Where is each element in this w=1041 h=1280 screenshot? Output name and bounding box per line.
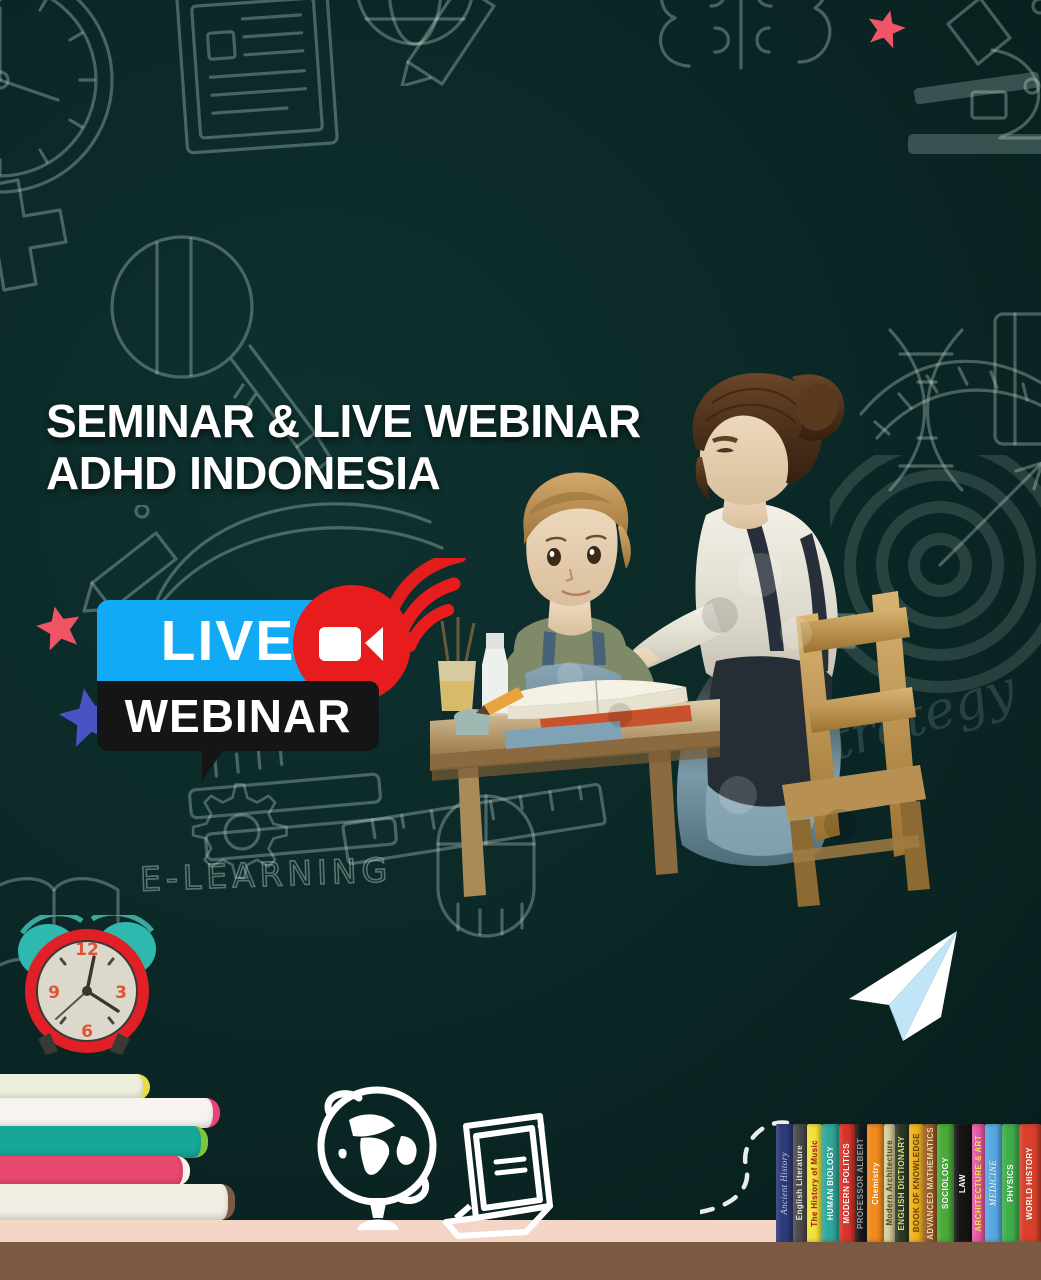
book-spine: MEDICINE bbox=[985, 1124, 1002, 1242]
book-spine-title: MEDICINE bbox=[989, 1160, 998, 1206]
book-spine-title: English Literature bbox=[796, 1145, 804, 1220]
live-label: LIVE bbox=[161, 613, 302, 670]
globe-outline-icon bbox=[330, 0, 500, 58]
book-stack bbox=[0, 1076, 260, 1220]
plus-icon bbox=[0, 176, 84, 296]
book-spine-title: Chemistry bbox=[872, 1162, 880, 1205]
book-spine: Modern Architecture bbox=[884, 1124, 895, 1242]
book-spine-title: The History of Music bbox=[811, 1140, 819, 1227]
book-spine: ENGLISH DICTIONARY bbox=[895, 1124, 909, 1242]
globe-icon bbox=[305, 1078, 455, 1238]
page-title: SEMINAR & LIVE WEBINAR ADHD INDONESIA bbox=[46, 396, 641, 499]
notebook-icon bbox=[985, 300, 1041, 480]
book-spine-title: WORLD HISTORY bbox=[1026, 1147, 1034, 1220]
book-spine: The History of Music bbox=[807, 1124, 822, 1242]
svg-text:3: 3 bbox=[115, 983, 127, 1003]
book-spine-title: ADVANCED MATHEMATICS bbox=[927, 1127, 935, 1240]
stacked-book bbox=[0, 1126, 208, 1158]
book-spine: ARCHITECTURE & ART bbox=[972, 1124, 985, 1242]
pencil-icon bbox=[390, 0, 530, 86]
book-spine-title: LAW bbox=[959, 1174, 967, 1193]
brain-icon bbox=[645, 0, 875, 106]
tablet-icon bbox=[440, 1110, 560, 1240]
book-spine-title: BOOK OF KNOWLEDGE bbox=[913, 1133, 921, 1232]
book-spine-title: MODERN POLITICS bbox=[843, 1143, 851, 1224]
book-spine-title: SOCIOLOGY bbox=[942, 1157, 950, 1209]
book-spine: BOOK OF KNOWLEDGE bbox=[909, 1124, 924, 1242]
svg-text:6: 6 bbox=[81, 1022, 93, 1042]
clipboard-icon bbox=[170, 0, 370, 168]
alarm-clock-icon: 12 3 6 9 bbox=[8, 915, 168, 1075]
book-spine: Chemistry bbox=[867, 1124, 884, 1242]
book-spine-title: PROFESSOR ALBERT bbox=[857, 1138, 865, 1229]
poster-canvas: strategy E-LEARNING bbox=[0, 0, 1041, 1280]
stacked-book bbox=[0, 1098, 220, 1128]
book-spine: WORLD HISTORY bbox=[1019, 1124, 1041, 1242]
svg-text:9: 9 bbox=[48, 983, 60, 1003]
book-spine: HUMAN BIOLOGY bbox=[822, 1124, 839, 1242]
book-spine: Ancient History bbox=[776, 1124, 793, 1242]
stacked-book bbox=[0, 1074, 150, 1100]
live-webinar-badge[interactable]: LIVE WEBINAR bbox=[97, 585, 437, 770]
bookshelf-row: Ancient HistoryEnglish LiteratureThe His… bbox=[776, 1124, 1041, 1242]
wall-clock-icon bbox=[0, 0, 170, 260]
book-spine-title: Ancient History bbox=[780, 1152, 789, 1215]
book-spine: SOCIOLOGY bbox=[937, 1124, 954, 1242]
book-spine: LAW bbox=[954, 1124, 972, 1242]
headline-line-2: ADHD INDONESIA bbox=[46, 448, 641, 500]
speech-bubble-tail bbox=[202, 749, 240, 781]
star-icon bbox=[36, 604, 82, 650]
book-spine: PHYSICS bbox=[1002, 1124, 1019, 1242]
book-spine-title: ARCHITECTURE & ART bbox=[975, 1135, 983, 1232]
elearning-watermark-text: E-LEARNING bbox=[139, 850, 392, 899]
book-spine: ADVANCED MATHEMATICS bbox=[924, 1124, 937, 1242]
paper-plane-icon bbox=[845, 925, 965, 1045]
headline-line-1: SEMINAR & LIVE WEBINAR bbox=[46, 395, 641, 447]
webinar-label: WEBINAR bbox=[125, 693, 352, 739]
book-spine-title: ENGLISH DICTIONARY bbox=[898, 1136, 906, 1230]
webinar-label-bubble: WEBINAR bbox=[97, 681, 379, 751]
book-spine: MODERN POLITICS bbox=[839, 1124, 855, 1242]
stacked-book bbox=[0, 1184, 235, 1220]
star-icon bbox=[866, 8, 906, 48]
book-spine: PROFESSOR ALBERT bbox=[855, 1124, 867, 1242]
stacked-book bbox=[0, 1156, 190, 1186]
book-spine-title: Modern Architecture bbox=[886, 1140, 894, 1226]
book-spine: English Literature bbox=[793, 1124, 807, 1242]
shelf-edge bbox=[0, 1242, 1041, 1280]
book-spine-title: HUMAN BIOLOGY bbox=[827, 1146, 835, 1220]
video-camera-icon bbox=[319, 623, 385, 665]
book-spine-title: PHYSICS bbox=[1007, 1164, 1015, 1202]
